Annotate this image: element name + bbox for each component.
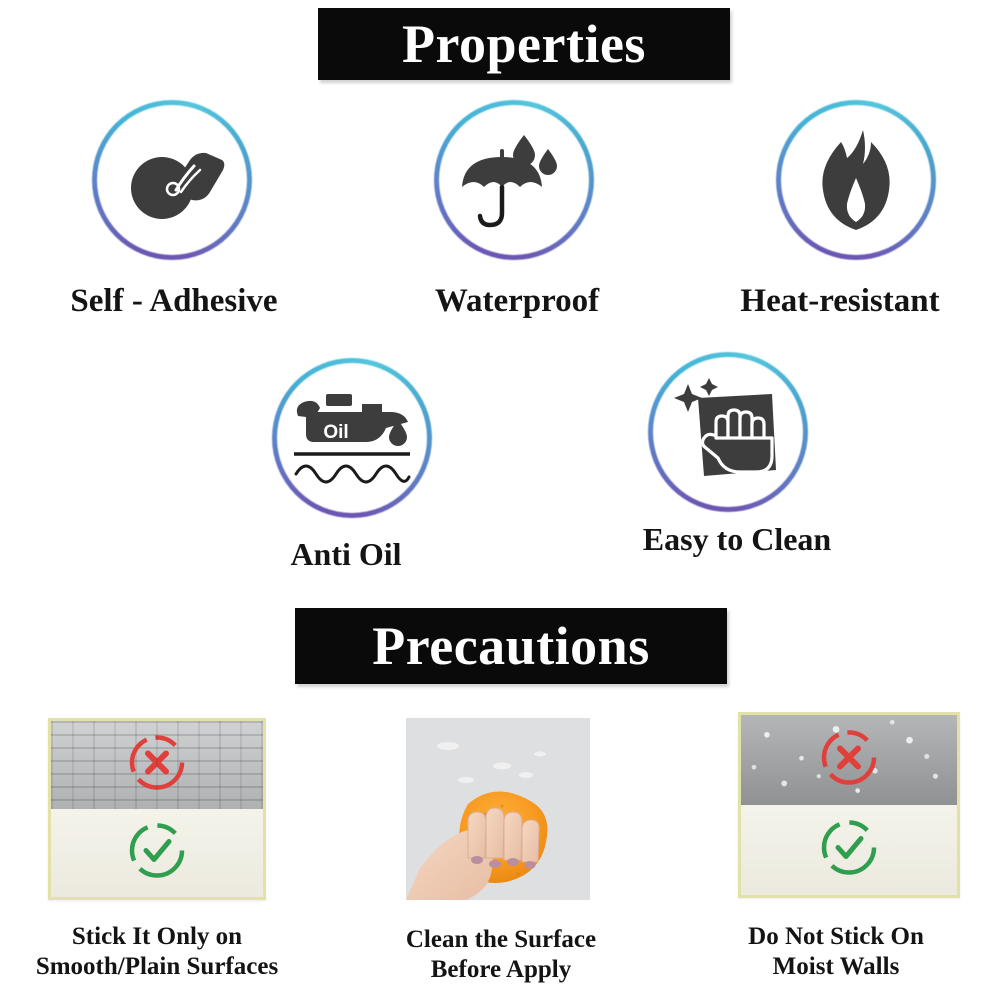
- hand-peeling-sticker-icon: [92, 100, 252, 260]
- plain-wall-surface: [741, 805, 957, 895]
- precaution-card-moist-walls: [738, 712, 960, 898]
- properties-section-banner: Properties: [318, 8, 730, 80]
- feature-badge-heat-resistant: [776, 100, 936, 260]
- precaution-card-clean-surface: [406, 718, 590, 900]
- precaution-caption-moist-walls: Do Not Stick On Moist Walls: [686, 922, 986, 981]
- feature-badge-waterproof: [434, 100, 594, 260]
- caption-line-2: Smooth/Plain Surfaces: [2, 952, 312, 982]
- oil-can-label: Oil: [323, 422, 348, 443]
- precaution-image: [48, 718, 266, 900]
- cross-mark-icon: [126, 732, 188, 799]
- flame-icon: [776, 100, 936, 260]
- umbrella-raindrops-icon: [434, 100, 594, 260]
- plain-wall-surface: [51, 809, 263, 897]
- cleaning-photo: [406, 718, 590, 900]
- cross-mark-icon: [818, 727, 880, 794]
- precaution-caption-clean-surface: Clean the Surface Before Apply: [356, 925, 646, 984]
- feature-label-anti-oil: Anti Oil: [196, 536, 496, 573]
- hand-wiping-cloth-icon: [648, 352, 808, 512]
- precaution-image: [738, 712, 960, 898]
- feature-label-heat-resistant: Heat-resistant: [690, 283, 990, 320]
- feature-badge-easy-to-clean: [648, 352, 808, 512]
- feature-badge-anti-oil: Oil: [272, 358, 432, 518]
- caption-line-1: Stick It Only on: [2, 922, 312, 952]
- check-mark-icon: [818, 817, 880, 884]
- check-mark-icon: [126, 820, 188, 887]
- wet-wall-surface: [741, 715, 957, 805]
- caption-line-1: Do Not Stick On: [686, 922, 986, 952]
- brick-wall-surface: [51, 721, 263, 809]
- precautions-section-banner: Precautions: [295, 608, 727, 684]
- feature-label-self-adhesive: Self - Adhesive: [0, 283, 348, 320]
- infographic-page: Properties: [0, 0, 990, 1000]
- caption-line-1: Clean the Surface: [356, 925, 646, 955]
- hand-with-orange-sponge-cleaning-wall: [406, 718, 590, 900]
- caption-line-2: Moist Walls: [686, 952, 986, 982]
- precaution-caption-smooth-surfaces: Stick It Only on Smooth/Plain Surfaces: [2, 922, 312, 981]
- feature-label-waterproof: Waterproof: [352, 283, 682, 320]
- oil-can-icon: Oil: [272, 358, 432, 518]
- feature-badge-self-adhesive: [92, 100, 252, 260]
- caption-line-2: Before Apply: [356, 955, 646, 985]
- feature-label-easy-to-clean: Easy to Clean: [572, 521, 902, 558]
- precaution-card-smooth-surfaces: [48, 718, 266, 900]
